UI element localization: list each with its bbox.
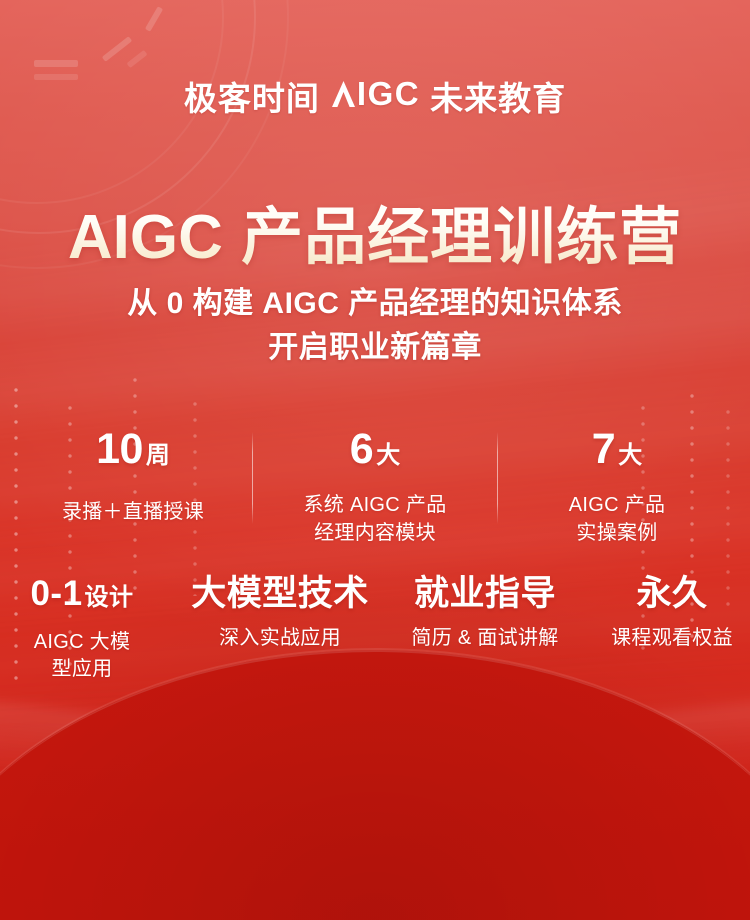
page-title-en: AIGC bbox=[68, 203, 223, 272]
feature-heading: 大模型技术 bbox=[178, 572, 382, 616]
subtitle-line-1: 从 0 构建 AIGC 产品经理的知识体系 bbox=[0, 282, 750, 326]
stat-number-unit: 大 bbox=[376, 442, 400, 469]
stat-number: 7大 bbox=[504, 424, 730, 481]
feature-item: 就业指导 简历 & 面试讲解 bbox=[386, 572, 584, 652]
feature-description: 深入实战应用 bbox=[178, 625, 382, 652]
feature-heading-main: 大模型技术 bbox=[191, 574, 369, 613]
stat-number: 6大 bbox=[259, 424, 491, 481]
stat-number-unit: 周 bbox=[146, 442, 170, 469]
feature-heading-main: 0-1 bbox=[30, 574, 82, 613]
feature-desc-line-1: 课程观看权益 bbox=[611, 627, 733, 649]
feature-heading: 永久 bbox=[588, 572, 750, 616]
stat-desc-line-2: 经理内容模块 bbox=[259, 519, 491, 547]
stat-desc-line-1: 录播＋直播授课 bbox=[62, 501, 204, 523]
feature-item: 永久 课程观看权益 bbox=[584, 572, 750, 652]
feature-description: 简历 & 面试讲解 bbox=[390, 625, 580, 652]
page-title: AIGC 产品经理训练营 bbox=[0, 186, 750, 276]
feature-description: 课程观看权益 bbox=[588, 625, 750, 652]
feature-heading-main: 永久 bbox=[636, 574, 707, 613]
stat-number-unit: 大 bbox=[618, 442, 642, 469]
feature-heading: 0-1设计 bbox=[0, 572, 170, 620]
feature-heading-main: 就业指导 bbox=[414, 574, 556, 613]
stat-number-value: 7 bbox=[592, 425, 615, 473]
feature-item: 0-1设计 AIGC 大模型应用 bbox=[0, 572, 174, 683]
stats-row: 10周 录播＋直播授课 6大 系统 AIGC 产品经理内容模块 7大 AIGC … bbox=[0, 424, 750, 547]
stat-number-value: 6 bbox=[350, 425, 373, 473]
features-row: 0-1设计 AIGC 大模型应用 大模型技术 深入实战应用 就业指导 简历 & … bbox=[0, 572, 750, 683]
stat-description: 录播＋直播授课 bbox=[20, 498, 246, 526]
stat-description: AIGC 产品实操案例 bbox=[504, 491, 730, 547]
feature-heading-small: 设计 bbox=[85, 584, 134, 611]
stat-description: 系统 AIGC 产品经理内容模块 bbox=[259, 491, 491, 547]
feature-desc-line-1: AIGC 大模 bbox=[34, 631, 131, 653]
poster-content: 极客时间IGC未来教育 AIGC 产品经理训练营 从 0 构建 AIGC 产品经… bbox=[0, 0, 750, 920]
page-title-cn: 产品经理训练营 bbox=[241, 203, 682, 272]
brand-logo-text: IGC bbox=[357, 75, 420, 112]
stat-item: 10周 录播＋直播授课 bbox=[14, 424, 252, 526]
feature-desc-line-2: 型应用 bbox=[0, 656, 170, 683]
feature-item: 大模型技术 深入实战应用 bbox=[174, 572, 386, 652]
stat-desc-line-1: AIGC 产品 bbox=[569, 494, 666, 516]
brand-header: 极客时间IGC未来教育 bbox=[0, 72, 750, 120]
stat-item: 7大 AIGC 产品实操案例 bbox=[498, 424, 736, 547]
aigc-a-mark-icon bbox=[330, 79, 357, 109]
stat-desc-line-1: 系统 AIGC 产品 bbox=[303, 494, 446, 516]
feature-desc-line-1: 简历 & 面试讲解 bbox=[411, 627, 558, 649]
subtitle-line-2: 开启职业新篇章 bbox=[0, 326, 750, 370]
brand-right-text: 未来教育 bbox=[430, 72, 566, 120]
stat-desc-line-2: 实操案例 bbox=[504, 519, 730, 547]
stat-item: 6大 系统 AIGC 产品经理内容模块 bbox=[253, 424, 497, 547]
brand-left-text: 极客时间 bbox=[184, 72, 320, 120]
feature-description: AIGC 大模型应用 bbox=[0, 629, 170, 683]
brand-aigc-logo: IGC bbox=[330, 75, 420, 112]
feature-desc-line-1: 深入实战应用 bbox=[219, 627, 341, 649]
page-subtitle: 从 0 构建 AIGC 产品经理的知识体系 开启职业新篇章 bbox=[0, 282, 750, 370]
course-promo-poster: 极客时间IGC未来教育 AIGC 产品经理训练营 从 0 构建 AIGC 产品经… bbox=[0, 0, 750, 920]
stat-number: 10周 bbox=[20, 424, 246, 481]
stat-number-value: 10 bbox=[96, 425, 143, 473]
feature-heading: 就业指导 bbox=[390, 572, 580, 616]
